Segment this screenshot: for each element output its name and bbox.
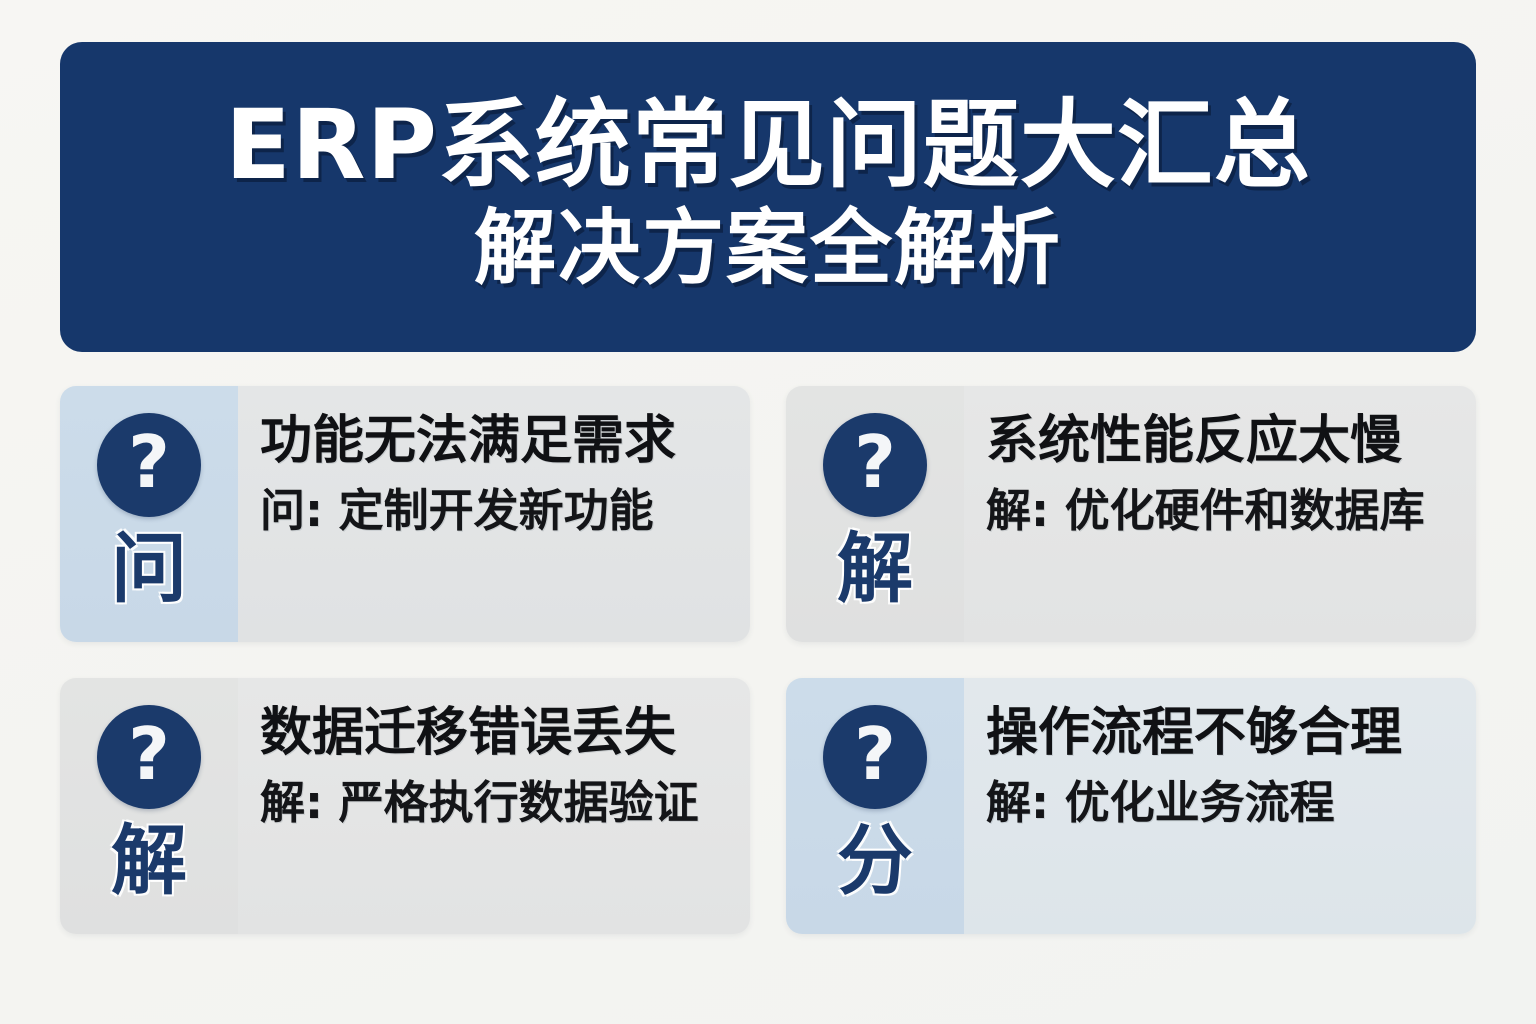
- card-badge-panel: ? 解: [60, 678, 238, 934]
- card-subtitle: 解: 优化业务流程: [986, 778, 1466, 828]
- faq-card-grid: ? 问 功能无法满足需求 问: 定制开发新功能 ? 解 系统性能反应太慢 解: …: [60, 386, 1476, 934]
- card-title: 系统性能反应太慢: [986, 412, 1466, 470]
- card-badge-character: 解: [111, 823, 187, 899]
- card-subtitle: 解: 优化硬件和数据库: [986, 486, 1466, 536]
- card-title: 功能无法满足需求: [260, 412, 740, 470]
- infographic-poster: ERP系统常见问题大汇总 解决方案全解析 ? 问 功能无法满足需求 问: 定制开…: [0, 0, 1536, 1024]
- question-mark-glyph: ?: [128, 718, 170, 790]
- faq-card[interactable]: ? 解 系统性能反应太慢 解: 优化硬件和数据库: [786, 386, 1476, 642]
- page-subtitle: 解决方案全解析: [474, 204, 1062, 294]
- card-title: 数据迁移错误丢失: [260, 704, 740, 762]
- card-body: 操作流程不够合理 解: 优化业务流程: [964, 678, 1476, 934]
- header-banner: ERP系统常见问题大汇总 解决方案全解析: [60, 42, 1476, 352]
- question-mark-icon: ?: [823, 413, 927, 517]
- card-badge-character: 分: [837, 823, 913, 899]
- card-body: 数据迁移错误丢失 解: 严格执行数据验证: [238, 678, 750, 934]
- question-mark-icon: ?: [823, 705, 927, 809]
- card-subtitle: 问: 定制开发新功能: [260, 486, 740, 536]
- card-badge-character: 问: [111, 531, 187, 607]
- question-mark-glyph: ?: [854, 426, 896, 498]
- card-subtitle: 解: 严格执行数据验证: [260, 778, 740, 828]
- card-body: 系统性能反应太慢 解: 优化硬件和数据库: [964, 386, 1476, 642]
- question-mark-icon: ?: [97, 705, 201, 809]
- card-badge-panel: ? 解: [786, 386, 964, 642]
- faq-card[interactable]: ? 解 数据迁移错误丢失 解: 严格执行数据验证: [60, 678, 750, 934]
- question-mark-icon: ?: [97, 413, 201, 517]
- page-title: ERP系统常见问题大汇总: [225, 94, 1311, 198]
- card-badge-panel: ? 问: [60, 386, 238, 642]
- faq-card[interactable]: ? 分 操作流程不够合理 解: 优化业务流程: [786, 678, 1476, 934]
- card-title: 操作流程不够合理: [986, 704, 1466, 762]
- card-badge-panel: ? 分: [786, 678, 964, 934]
- question-mark-glyph: ?: [128, 426, 170, 498]
- faq-card[interactable]: ? 问 功能无法满足需求 问: 定制开发新功能: [60, 386, 750, 642]
- card-badge-character: 解: [837, 531, 913, 607]
- card-body: 功能无法满足需求 问: 定制开发新功能: [238, 386, 750, 642]
- question-mark-glyph: ?: [854, 718, 896, 790]
